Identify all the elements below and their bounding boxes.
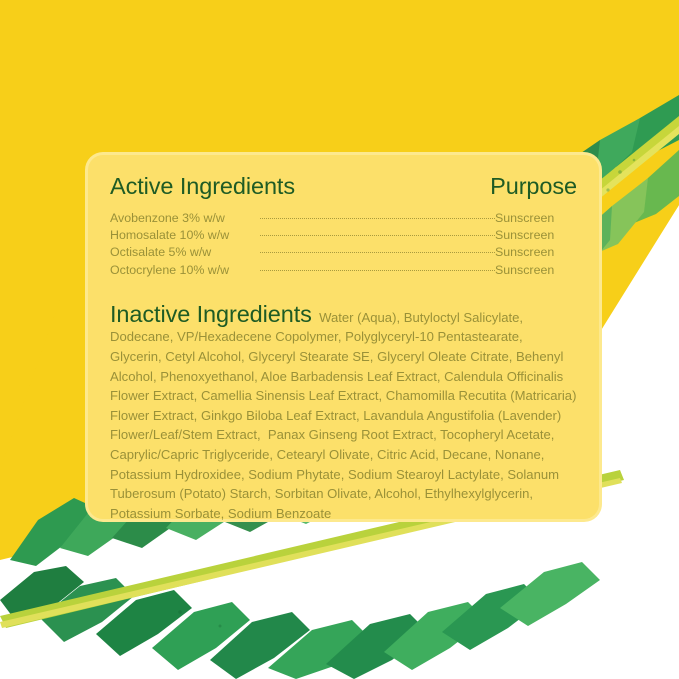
table-row: Octisalate 5% w/w Sunscreen — [110, 244, 577, 261]
purpose-heading: Purpose — [490, 173, 577, 200]
ingredient-name: Homosalate 10% w/w — [110, 227, 260, 244]
ingredient-purpose: Sunscreen — [495, 227, 577, 244]
table-row: Avobenzone 3% w/w Sunscreen — [110, 210, 577, 227]
ingredient-name: Octisalate 5% w/w — [110, 244, 260, 261]
ingredient-purpose: Sunscreen — [495, 244, 577, 261]
table-row: Homosalate 10% w/w Sunscreen — [110, 227, 577, 244]
ingredient-name: Octocrylene 10% w/w — [110, 262, 260, 279]
ingredient-purpose: Sunscreen — [495, 262, 577, 279]
dot-leader — [260, 244, 495, 261]
ingredients-card: Active Ingredients Purpose Avobenzone 3%… — [88, 155, 599, 519]
active-ingredients-table: Avobenzone 3% w/w Sunscreen Homosalate 1… — [110, 210, 577, 279]
inactive-ingredients-block: Inactive Ingredients Water (Aqua), Butyl… — [110, 305, 577, 524]
inactive-ingredients-heading: Inactive Ingredients — [110, 301, 312, 327]
active-ingredients-heading: Active Ingredients — [110, 173, 295, 200]
dot-leader — [260, 227, 495, 244]
dot-leader — [260, 210, 495, 227]
inactive-ingredients-text: Water (Aqua), Butyloctyl Salicylate, Dod… — [110, 310, 580, 521]
label-panel: Active Ingredients Purpose Avobenzone 3%… — [0, 0, 679, 679]
active-ingredients-body: Avobenzone 3% w/w Sunscreen Homosalate 1… — [110, 210, 577, 279]
dot-leader — [260, 262, 495, 279]
table-row: Octocrylene 10% w/w Sunscreen — [110, 262, 577, 279]
actives-header-row: Active Ingredients Purpose — [110, 173, 577, 200]
ingredient-name: Avobenzone 3% w/w — [110, 210, 260, 227]
ingredient-purpose: Sunscreen — [495, 210, 577, 227]
